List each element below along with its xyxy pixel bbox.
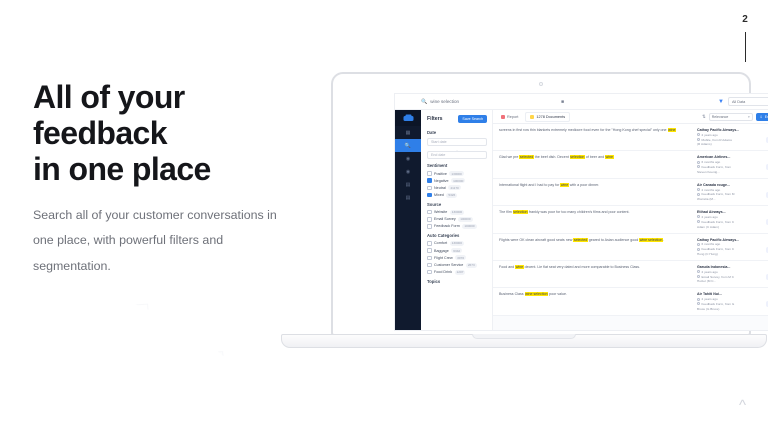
document-source-name[interactable]: American Airlines... [697, 155, 759, 159]
highlighted-term: selected [519, 155, 533, 159]
filter-option-count: 100000 [451, 178, 465, 183]
origin-icon [697, 248, 700, 251]
app-logo-icon[interactable] [395, 110, 421, 126]
filter-option-count: 5326 [446, 193, 457, 198]
source-options: Website130000Email Survey100000Feedback … [427, 210, 487, 229]
highlighted-term: wine [605, 155, 613, 159]
insights-icon: ◉ [406, 156, 410, 162]
page-number: 2 [738, 14, 752, 25]
tab-documents-label: 1278 Documents [536, 115, 565, 119]
document-scores: ☹10COMFORT [763, 183, 768, 201]
document-age-text: 2 years ago [702, 133, 718, 137]
filter-option-count: 2673 [466, 263, 477, 268]
checkbox-icon[interactable] [427, 210, 432, 215]
snippet-text: of beer and [585, 155, 605, 159]
checkbox-icon[interactable] [427, 270, 432, 275]
document-scores: ☹10COMFORT [763, 128, 768, 146]
snippet-text: screens in first row thin blankets extre… [499, 128, 668, 132]
tab-report[interactable]: Report [497, 113, 522, 121]
sort-select[interactable]: Relevance ▾ [709, 113, 753, 121]
snippet-text: Flights were OK clean aircraft good seat… [499, 238, 573, 242]
background-curve-mask [0, 268, 283, 427]
document-author: Huizer (M C... [697, 279, 759, 283]
tab-report-label: Report [507, 115, 518, 119]
app-topbar: 🔍 wine selection ■ ▼ All Data ▾ [395, 94, 768, 110]
filter-option-count: 100000 [462, 224, 476, 229]
filter-option-label: Feedback Form [434, 224, 460, 228]
document-snippet: International flight and I had to pay fo… [499, 183, 693, 201]
topics-filter-label: Topics [427, 279, 487, 284]
filter-option-autocat-1[interactable]: Baggage6342 [427, 248, 487, 253]
origin-icon [697, 165, 700, 168]
filters-title: Filters [427, 116, 443, 122]
report-icon [501, 115, 505, 119]
search-icon: 🔍 [421, 99, 427, 105]
highlighted-term: wine selection [639, 238, 663, 242]
data-scope-label: All Data [732, 100, 745, 104]
document-author: Adam (C Adam) [697, 225, 759, 229]
document-author: Worrelia (M... [697, 197, 759, 201]
source-filter-label: Source [427, 202, 487, 207]
document-snippet: screens in first row thin blankets extre… [499, 128, 693, 146]
document-origin: Feedback Form, from [697, 165, 759, 169]
page-title: All of your feedback in one place [33, 80, 313, 187]
settings-icon: ▤ [406, 195, 411, 201]
document-scores: ☹55COMFORT [763, 210, 768, 228]
filter-option-autocat-2[interactable]: Flight Crew3070 [427, 255, 487, 260]
origin-icon [697, 220, 700, 223]
document-author-text: Bruce (G Bruce) [697, 307, 719, 311]
snippet-text: The film [499, 210, 513, 214]
sentiment-options: Positive130000Negative100000Neutral41170… [427, 171, 487, 198]
sidebar-item-dashboard[interactable]: ▦ [395, 126, 421, 139]
chevron-down-icon: ▾ [748, 115, 750, 119]
snippet-text: with a poor dinner. [569, 183, 599, 187]
snippet-text: Business Class [499, 292, 525, 296]
auto-categories-filter-label: Auto Categories [427, 233, 487, 238]
origin-icon [697, 275, 700, 278]
filter-option-label: Neutral [434, 186, 446, 190]
document-origin: Email Survey, from M C [697, 275, 759, 279]
document-author-text: Hung (C Hung) [697, 252, 718, 256]
document-age-text: 2 years ago [702, 270, 718, 274]
app-screen: 🔍 wine selection ■ ▼ All Data ▾ [394, 93, 768, 331]
laptop-notch [472, 334, 576, 339]
filter-option-count: 41170 [448, 185, 460, 190]
filter-option-sentiment-3[interactable]: Mixed5326 [427, 193, 487, 198]
document-source-name[interactable]: Garuda Indonesia... [697, 265, 759, 269]
document-age: 6 months ago [697, 242, 759, 246]
chevron-up-icon[interactable]: ^ [739, 398, 746, 413]
document-age-text: 6 months ago [702, 160, 721, 164]
sentiment-filter-label: Sentiment [427, 163, 487, 168]
document-row[interactable]: Business Class wine selection poor value… [493, 288, 768, 315]
date-filter-label: Date [427, 130, 487, 135]
filter-option-sentiment-2[interactable]: Neutral41170 [427, 185, 487, 190]
document-author: (R Adams) [697, 142, 759, 146]
start-date-input[interactable]: Start date [427, 138, 487, 146]
end-date-input[interactable]: End date [427, 151, 487, 159]
document-age: 2 years ago [697, 215, 759, 219]
filters-header: Filters Save Search [427, 115, 487, 123]
sidebar-item-alerts[interactable]: ◉ [395, 165, 421, 178]
highlighted-term: wine [515, 265, 523, 269]
document-source-name[interactable]: Cathay Pacific Airways... [697, 238, 759, 242]
document-source-name[interactable]: Air Tahiti Nui... [697, 292, 759, 296]
document-list[interactable]: screens in first row thin blankets extre… [493, 124, 768, 330]
snippet-text: the beef dish. Decent [534, 155, 570, 159]
sort-label: Relevance [712, 115, 729, 119]
clock-icon [697, 243, 700, 246]
document-meta: Etihad Airways...2 years agoFeedback For… [697, 210, 759, 228]
document-source-name[interactable]: Air Canada rouge... [697, 183, 759, 187]
document-origin: Feedback Form, from M [697, 192, 759, 196]
webcam-icon [539, 82, 543, 86]
filter-option-count: 6342 [451, 248, 462, 253]
document-snippet: Glad we pre selected the beef dish. Dece… [499, 155, 693, 173]
sidebar-item-reports[interactable]: ▤ [395, 178, 421, 191]
filter-option-label: Food Drink [434, 270, 452, 274]
document-meta: Air Tahiti Nui...2 years agoFeedback For… [697, 292, 759, 310]
sidebar-rail: ▦ 🔍 ◉ ◉ ▤ ▤ [395, 110, 421, 330]
document-row[interactable]: Glad we pre selected the beef dish. Dece… [493, 151, 768, 178]
origin-icon [697, 193, 700, 196]
document-origin: Feedback Form, from C [697, 247, 759, 251]
document-snippet: The film selection frankly was poor for … [499, 210, 693, 228]
document-age: 2 years ago [697, 270, 759, 274]
search-icon: 🔍 [405, 143, 411, 149]
sidebar-item-insights[interactable]: ◉ [395, 152, 421, 165]
checkbox-icon[interactable] [427, 248, 432, 253]
results-toolbar: ⇅ Relevance ▾ ⇩ Export CSV [702, 113, 768, 121]
document-scores: ☺10COMFORT [763, 265, 768, 283]
checkbox-icon[interactable] [427, 178, 432, 183]
document-origin-text: Feedback Form, from G [702, 302, 735, 306]
filter-option-count: 3070 [455, 255, 466, 260]
tab-documents[interactable]: 1278 Documents [525, 112, 570, 122]
document-meta: American Airlines...6 months agoFeedback… [697, 155, 759, 173]
highlighted-term: selected [573, 238, 587, 242]
filter-option-sentiment-0[interactable]: Positive130000 [427, 171, 487, 176]
alerts-icon: ◉ [406, 169, 410, 175]
snippet-text: decent. Lie flat seat very dated and mor… [524, 265, 640, 269]
document-age-text: 2 months ago [702, 188, 721, 192]
document-origin-text: Feedback Form, from C [702, 247, 735, 251]
clear-icon[interactable]: ■ [561, 99, 564, 105]
documents-icon [530, 115, 534, 119]
checkbox-icon[interactable] [427, 224, 432, 229]
checkbox-icon[interactable] [427, 217, 432, 222]
laptop-lid: 🔍 wine selection ■ ▼ All Data ▾ [331, 72, 751, 336]
snippet-text: poor value. [548, 292, 567, 296]
document-snippet: Business Class wine selection poor value… [499, 292, 693, 310]
checkbox-icon[interactable] [427, 171, 432, 176]
search-input[interactable]: wine selection [430, 99, 459, 104]
reports-icon: ▤ [406, 182, 411, 188]
document-origin-text: Feedback Form, from [702, 165, 732, 169]
filter-option-count: 100000 [458, 217, 472, 222]
highlighted-term: wine [560, 183, 568, 187]
subtitle-text: Search all of your customer conversation… [33, 203, 295, 279]
document-meta: Garuda Indonesia...2 years agoEmail Surv… [697, 265, 759, 283]
document-scores: ☺98COMFORT [763, 155, 768, 173]
document-row[interactable]: Food and wine decent. Lie flat seat very… [493, 261, 768, 288]
checkbox-icon[interactable] [427, 263, 432, 268]
document-age: 2 years ago [697, 133, 759, 137]
document-meta: Air Canada rouge...2 months agoFeedback … [697, 183, 759, 201]
filter-option-label: Comfort [434, 241, 447, 245]
filter-option-count: 1207 [455, 270, 466, 275]
app-body: ▦ 🔍 ◉ ◉ ▤ ▤ Filters Save Search Date Sta… [395, 110, 768, 330]
snippet-text: Food and [499, 265, 515, 269]
document-author-text: Adam (C Adam) [697, 225, 719, 229]
document-age: 6 months ago [697, 160, 759, 164]
document-row[interactable]: Flights were OK clean aircraft good seat… [493, 234, 768, 261]
checkbox-icon[interactable] [427, 241, 432, 246]
filter-option-label: Negative [434, 179, 449, 183]
document-origin: Mobile, from R Adams [697, 138, 759, 142]
document-author: Steven Koenig... [697, 170, 759, 174]
results-panel: Report 1278 Documents ⇅ Relevance ▾ [493, 110, 768, 330]
origin-icon [697, 138, 700, 141]
filter-option-sentiment-1[interactable]: Negative100000 [427, 178, 487, 183]
clock-icon [697, 188, 700, 191]
document-author-text: Steven Koenig... [697, 170, 720, 174]
document-age-text: 6 months ago [702, 242, 721, 246]
clock-icon [697, 161, 700, 164]
filter-option-label: Flight Crew [434, 256, 453, 260]
filter-option-autocat-3[interactable]: Customer Service2673 [427, 263, 487, 268]
clock-icon [697, 215, 700, 218]
dashboard-icon: ▦ [406, 130, 411, 136]
document-author-text: Huizer (M C... [697, 279, 716, 283]
document-origin-text: Feedback Form, from C [702, 220, 735, 224]
snippet-text: Glad we pre [499, 155, 519, 159]
document-scores: ☹10COMFORT [763, 238, 768, 256]
filter-option-count: 130000 [450, 241, 464, 246]
checkbox-icon[interactable] [427, 256, 432, 261]
filter-option-autocat-4[interactable]: Food Drink1207 [427, 270, 487, 275]
document-origin-text: Feedback Form, from M [702, 192, 735, 196]
clock-icon [697, 298, 700, 301]
document-age: 2 months ago [697, 188, 759, 192]
export-csv-button[interactable]: ⇩ Export CSV [756, 113, 768, 121]
funnel-icon[interactable]: ▼ [718, 99, 724, 105]
filter-option-count: 130000 [449, 171, 463, 176]
origin-icon [697, 302, 700, 305]
sidebar-item-search[interactable]: 🔍 [395, 139, 421, 152]
page-number-rule [745, 32, 747, 62]
filter-option-source-1[interactable]: Email Survey100000 [427, 217, 487, 222]
document-origin-text: Email Survey, from M C [702, 275, 734, 279]
filter-option-label: Positive [434, 172, 447, 176]
filter-option-label: Mixed [434, 193, 444, 197]
filter-option-label: Baggage [434, 249, 449, 253]
results-tabs: Report 1278 Documents ⇅ Relevance ▾ [493, 110, 768, 124]
filters-panel: Filters Save Search Date Start date - En… [421, 110, 493, 330]
download-icon: ⇩ [760, 115, 763, 119]
sidebar-item-settings[interactable]: ▤ [395, 191, 421, 204]
highlighted-term: wine [668, 128, 676, 132]
document-origin-text: Mobile, from R Adams [702, 138, 732, 142]
document-author-text: Worrelia (M... [697, 197, 716, 201]
data-scope-select[interactable]: All Data ▾ [728, 97, 768, 106]
highlighted-term: selection [570, 155, 585, 159]
save-search-button[interactable]: Save Search [458, 115, 487, 123]
topbar-right-controls: ▼ All Data ▾ [718, 97, 768, 106]
document-scores: ☹10COMFORT [763, 292, 768, 310]
document-author: Bruce (G Bruce) [697, 307, 759, 311]
headline-line-1: All of your [33, 79, 185, 115]
snippet-text: frankly was poor for too many children's… [528, 210, 630, 214]
document-age: 2 years ago [697, 297, 759, 301]
auto-categories-options: Comfort130000Baggage6342Flight Crew3070C… [427, 241, 487, 275]
filter-option-autocat-0[interactable]: Comfort130000 [427, 241, 487, 246]
document-age-text: 2 years ago [702, 215, 718, 219]
document-origin: Feedback Form, from C [697, 220, 759, 224]
filter-option-source-0[interactable]: Website130000 [427, 210, 487, 215]
document-row[interactable]: screens in first row thin blankets extre… [493, 124, 768, 151]
headline-line-3: in one place [33, 151, 211, 187]
document-meta: Cathay Pacific Airways...6 months agoFee… [697, 238, 759, 256]
document-origin: Feedback Form, from G [697, 302, 759, 306]
filter-option-label: Email Survey [434, 217, 456, 221]
filter-option-label: Website [434, 210, 447, 214]
snippet-text: geared to Asian audience good [588, 238, 640, 242]
document-author: Hung (C Hung) [697, 252, 759, 256]
snippet-text: International flight and I had to pay fo… [499, 183, 560, 187]
clock-icon [697, 133, 700, 136]
document-source-name[interactable]: Cathay Pacific Airways... [697, 128, 759, 132]
document-source-name[interactable]: Etihad Airways... [697, 210, 759, 214]
checkbox-icon[interactable] [427, 193, 432, 198]
document-snippet: Flights were OK clean aircraft good seat… [499, 238, 693, 256]
highlighted-term: selection [513, 210, 528, 214]
document-row[interactable]: The film selection frankly was poor for … [493, 206, 768, 233]
document-snippet: Food and wine decent. Lie flat seat very… [499, 265, 693, 283]
laptop-mockup: 🔍 wine selection ■ ▼ All Data ▾ [281, 72, 767, 362]
snippet-text: . [663, 238, 664, 242]
filter-option-label: Customer Service [434, 263, 463, 267]
sort-icon[interactable]: ⇅ [702, 114, 706, 120]
checkbox-icon[interactable] [427, 186, 432, 191]
document-age-text: 2 years ago [702, 297, 718, 301]
filter-option-count: 130000 [450, 210, 464, 215]
filter-option-source-2[interactable]: Feedback Form100000 [427, 224, 487, 229]
headline-line-2: feedback [33, 115, 167, 151]
document-row[interactable]: International flight and I had to pay fo… [493, 179, 768, 206]
highlighted-term: wine selection [525, 292, 549, 296]
clock-icon [697, 270, 700, 273]
document-author-text: (R Adams) [697, 142, 712, 146]
document-meta: Cathay Pacific Airways...2 years agoMobi… [697, 128, 759, 146]
